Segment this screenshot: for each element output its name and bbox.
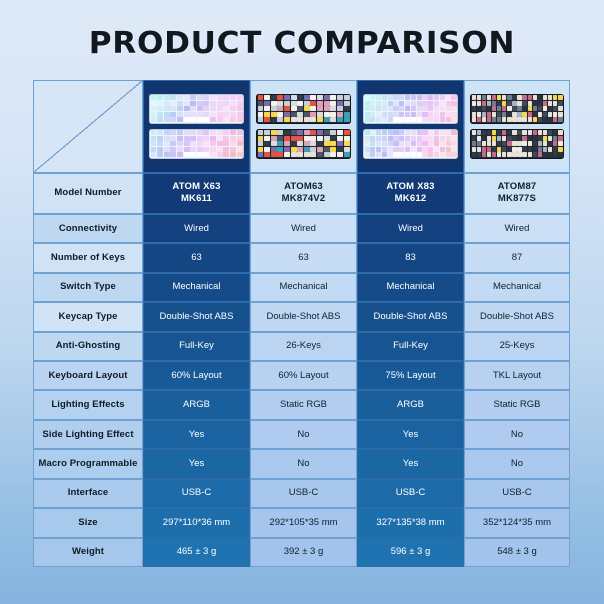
keycap [533,147,537,152]
keycap [548,106,552,111]
keycap [284,147,290,152]
keycap [558,117,562,122]
keycap [382,112,387,117]
keycap [533,117,537,122]
keyboard-image [363,94,458,124]
keycap [548,117,552,122]
cell-keycap-type-product-4: Double-Shot ABS [464,302,570,331]
keycap [324,106,330,111]
keycap [393,152,398,157]
keycap [558,95,562,100]
keycap [492,147,496,152]
keycap [548,112,552,117]
keycap [512,106,516,111]
keycap [151,95,157,100]
keycap [230,141,236,146]
keycap [434,106,439,111]
keycap [330,112,336,117]
keycap [446,136,451,141]
keycap [151,130,157,135]
model-text: ATOM87MK877S [498,181,537,205]
product-image-cell-1 [143,80,250,173]
keycap [376,106,381,111]
keycap [297,141,303,146]
keycap [370,106,375,111]
row-label-anti-ghosting: Anti-Ghosting [33,332,143,361]
keycap [543,112,547,117]
keycap [440,95,445,100]
cell-interface-product-4: USB-C [464,479,570,508]
keycap [344,147,350,152]
keycap [365,141,370,146]
keycap [492,152,496,157]
keycap [558,141,562,146]
cell-keycap-type-product-1: Double-Shot ABS [143,302,250,331]
keycap [184,101,190,106]
keycap [472,136,476,141]
keycap [230,152,236,157]
keycap [277,130,283,135]
keycap [277,152,283,157]
product-model-4: ATOM87MK877S [464,173,570,214]
keycap [533,152,537,157]
keycap [502,141,506,146]
keycap [411,101,416,106]
keycap [297,106,303,111]
keycap [237,112,243,117]
keycap [223,117,229,122]
keycap [388,106,393,111]
keycap [492,130,496,135]
keycap [502,152,506,157]
keycap [197,136,203,141]
keycap [405,152,410,157]
keycap [543,101,547,106]
keycap [399,136,404,141]
keycap [317,147,323,152]
keycap [170,152,176,157]
model-text: ATOM X83MK612 [386,181,434,205]
keycap [337,147,343,152]
keycap [528,136,532,141]
model-line-2: MK612 [386,193,434,205]
keycap [297,117,303,122]
keycap [482,136,486,141]
keycap [434,101,439,106]
keycap [344,95,350,100]
keycap [210,101,216,106]
keyboard-image [149,129,244,159]
keycap [310,136,316,141]
keycap [297,152,303,157]
keycap [264,147,270,152]
keycap [543,117,547,122]
keycap [507,141,511,146]
row-label-size: Size [33,508,143,537]
keycap [411,117,416,122]
model-line-1: ATOM87 [498,181,537,192]
keycap [297,112,303,117]
keycap [344,106,350,111]
keycap [264,130,270,135]
row-label-number-of-keys: Number of Keys [33,243,143,272]
keycap [548,95,552,100]
keycap [538,147,542,152]
keycap [388,141,393,146]
keycap [264,95,270,100]
row-label-keyboard-layout: Keyboard Layout [33,361,143,390]
keycap [422,147,427,152]
model-text: ATOM63MK874V2 [282,181,326,205]
keycap [258,141,264,146]
keycap [482,112,486,117]
keycap [190,130,196,135]
keycap [370,130,375,135]
keyboard-keys [258,95,350,122]
keycap [337,112,343,117]
keycap [237,101,243,106]
cell-lighting-effects-product-3: ARGB [357,390,464,419]
keycap [411,141,416,146]
keycap [151,136,157,141]
keycap [223,141,229,146]
keycap [477,101,481,106]
cell-number-of-keys-product-1: 63 [143,243,250,272]
keycap [310,95,316,100]
keycap [553,106,557,111]
keycap [553,117,557,122]
keycap [365,101,370,106]
keycap [230,95,236,100]
keycap [258,101,264,106]
keycap [512,147,516,152]
keycap [376,152,381,157]
keycap [184,136,190,141]
keycap [230,147,236,152]
keycap [446,147,451,152]
keycap [157,130,163,135]
keycap [522,152,526,157]
keycap [507,147,511,152]
keycap [411,136,416,141]
diagonal-divider-icon [34,81,142,172]
keycap [528,101,532,106]
cell-keycap-type-product-3: Double-Shot ABS [357,302,464,331]
keycap [217,117,223,122]
keycap [223,147,229,152]
keycap [365,112,370,117]
keycap [451,141,456,146]
keyboard-image [256,129,351,159]
cell-switch-type-product-4: Mechanical [464,273,570,302]
keycap [548,141,552,146]
keycap [451,147,456,152]
keycap [304,101,310,106]
keycap [210,136,216,141]
keycap [538,106,542,111]
keycap [538,136,542,141]
keycap [271,112,277,117]
keycap [271,152,277,157]
keycap [197,130,203,135]
keycap [558,152,562,157]
keycap [157,152,163,157]
keycap [184,112,190,117]
keycap [190,112,196,117]
keycap [477,152,481,157]
keycap [543,136,547,141]
cell-anti-ghosting-product-2: 26-Keys [250,332,357,361]
product-model-1: ATOM X63MK611 [143,173,250,214]
cell-connectivity-product-4: Wired [464,214,570,243]
keycap [177,152,183,157]
keycap [497,112,501,117]
cell-interface-product-3: USB-C [357,479,464,508]
keycap [317,112,323,117]
keycap [451,95,456,100]
keycap [482,101,486,106]
keycap [177,101,183,106]
keycap [487,101,491,106]
keycap [558,136,562,141]
keycap [310,106,316,111]
keycap [411,152,416,157]
keycap [170,106,176,111]
keycap [237,117,243,122]
cell-switch-type-product-3: Mechanical [357,273,464,302]
keycap [151,117,157,122]
keycap [203,95,209,100]
keycap [492,141,496,146]
keycap [553,130,557,135]
keycap [304,117,310,122]
keycap [517,117,521,122]
keycap [451,101,456,106]
keycap [310,112,316,117]
keycap [223,101,229,106]
keycap [330,95,336,100]
keycap [548,152,552,157]
keycap [422,136,427,141]
keycap [284,141,290,146]
keycap [487,106,491,111]
keycap [417,112,422,117]
keycap [422,152,427,157]
keycap [344,130,350,135]
keycap [440,141,445,146]
keycap [558,101,562,106]
keycap [528,152,532,157]
keycap [157,95,163,100]
keycap [310,147,316,152]
keycap [382,147,387,152]
keycap [370,95,375,100]
keycap [522,136,526,141]
keycap [522,141,526,146]
page-title: PRODUCT COMPARISON [89,26,515,61]
keycap [210,106,216,111]
keycap [177,106,183,111]
keycap [271,136,277,141]
keycap [472,147,476,152]
keycap [217,136,223,141]
keycap [271,95,277,100]
keycap [157,106,163,111]
keycap [177,147,183,152]
keycap [203,130,209,135]
keycap [264,112,270,117]
keycap [428,130,433,135]
cell-switch-type-product-2: Mechanical [250,273,357,302]
row-label-interface: Interface [33,479,143,508]
keycap [492,112,496,117]
keycap [277,141,283,146]
table-corner-cell [33,80,143,173]
keycap [533,130,537,135]
cell-number-of-keys-product-4: 87 [464,243,570,272]
keycap [446,112,451,117]
cell-anti-ghosting-product-3: Full-Key [357,332,464,361]
keyboard-image [470,129,564,159]
keycap [538,152,542,157]
keycap [528,141,532,146]
keycap [487,112,491,117]
keycap [446,141,451,146]
keycap [277,95,283,100]
keycap [203,152,209,157]
keycap [203,141,209,146]
keycap [291,152,297,157]
keycap [184,152,190,157]
keycap [184,130,190,135]
keycap [446,130,451,135]
cell-size-product-3: 327*135*38 mm [357,508,464,537]
keycap [223,136,229,141]
keycap [382,106,387,111]
keycap [291,101,297,106]
keycap [264,106,270,111]
keycap [271,141,277,146]
cell-side-lighting-effect-product-3: Yes [357,420,464,449]
keycap [337,136,343,141]
keyboard-image [363,129,458,159]
keycap [297,147,303,152]
keycap [422,106,427,111]
keycap [284,112,290,117]
keycap [543,130,547,135]
keycap [482,141,486,146]
keycap [376,117,381,122]
keycap [344,112,350,117]
keycap [440,130,445,135]
keycap [422,130,427,135]
keycap [487,117,491,122]
keycap [376,112,381,117]
cell-macro-programmable-product-3: Yes [357,449,464,478]
row-label-macro-programmable: Macro Programmable [33,449,143,478]
keycap [533,101,537,106]
keycap [365,130,370,135]
keycap [482,117,486,122]
keycap [291,147,297,152]
keycap [411,112,416,117]
keycap [399,112,404,117]
keycap [553,101,557,106]
keycap [271,117,277,122]
keycap [184,106,190,111]
keycap [317,130,323,135]
keycap [317,95,323,100]
keycap [164,101,170,106]
keycap [428,147,433,152]
model-line-2: MK877S [498,193,537,205]
keycap [164,147,170,152]
keycap [203,112,209,117]
cell-weight-product-2: 392 ± 3 g [250,538,357,567]
keycap [365,106,370,111]
keycap [428,152,433,157]
keycap [284,95,290,100]
keycap [528,147,532,152]
keycap [190,117,196,122]
keycap [434,95,439,100]
keycap [487,136,491,141]
keycap [388,136,393,141]
keycap [497,136,501,141]
keycap [538,130,542,135]
row-label-lighting-effects: Lighting Effects [33,390,143,419]
cell-size-product-1: 297*110*36 mm [143,508,250,537]
keycap [477,130,481,135]
keycap [330,101,336,106]
keycap [337,101,343,106]
keycap [170,101,176,106]
keycap [393,147,398,152]
keycap [337,106,343,111]
keycap [405,106,410,111]
keycap [502,106,506,111]
keycap [337,152,343,157]
keycap [203,136,209,141]
keycap [382,130,387,135]
keycap [417,117,422,122]
keycap [237,95,243,100]
cell-anti-ghosting-product-1: Full-Key [143,332,250,361]
keycap [217,101,223,106]
cell-number-of-keys-product-3: 83 [357,243,464,272]
keycap [538,101,542,106]
keycap [344,136,350,141]
keycap [428,136,433,141]
keycap [434,147,439,152]
keycap [472,106,476,111]
keycap [230,136,236,141]
keycap [223,106,229,111]
keycap [517,147,521,152]
keycap [230,112,236,117]
cell-macro-programmable-product-2: No [250,449,357,478]
keycap [417,141,422,146]
cell-side-lighting-effect-product-1: Yes [143,420,250,449]
cell-connectivity-product-2: Wired [250,214,357,243]
keyboard-image [256,94,351,124]
keycap [543,141,547,146]
cell-weight-product-4: 548 ± 3 g [464,538,570,567]
keycap [344,152,350,157]
keycap [502,147,506,152]
keycap [502,95,506,100]
keycap [310,152,316,157]
